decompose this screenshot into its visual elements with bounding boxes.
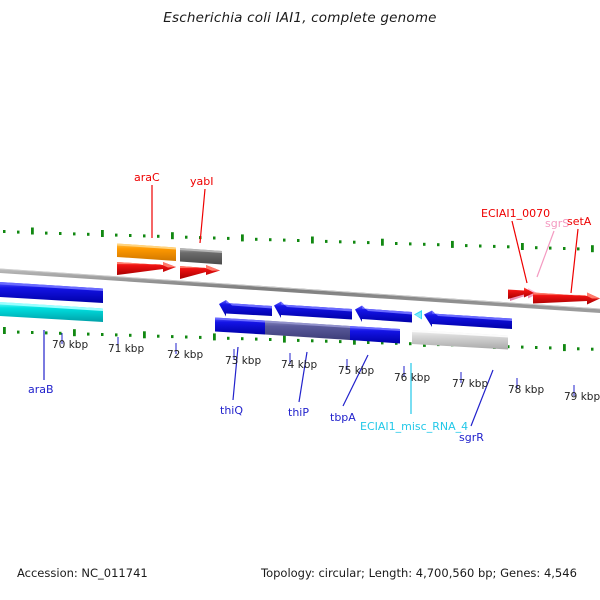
gene-thiQ-arrow[interactable]: [219, 300, 272, 317]
gene-label-tbpA[interactable]: tbpA: [330, 412, 356, 423]
gene-yabI[interactable]: [180, 248, 222, 265]
feature-araB-rna[interactable]: [0, 302, 103, 322]
gene-setA[interactable]: [533, 293, 600, 305]
gene-yabI-arrow[interactable]: [180, 265, 220, 279]
gene-label-sgrR[interactable]: sgrR: [459, 432, 484, 443]
ruler-tick-label-74kbp: 74 kbp: [281, 360, 317, 371]
gene-label-araB[interactable]: araB: [28, 384, 54, 395]
gene-label-thiQ[interactable]: thiQ: [220, 405, 243, 416]
status-accession: Accession: NC_011741: [17, 566, 148, 580]
ruler-tick-label-71kbp: 71 kbp: [108, 344, 144, 355]
ruler-tick-label-77kbp: 77 kbp: [452, 379, 488, 390]
leader-yabI: [200, 189, 205, 243]
status-bar: Accession: NC_011741 Topology: circular;…: [0, 554, 600, 600]
leader-sgrS: [537, 231, 554, 277]
gene-label-sgrS[interactable]: sgrS: [545, 218, 569, 229]
ruler-tick-label-75kbp: 75 kbp: [338, 366, 374, 377]
gene-label-thiP[interactable]: thiP: [288, 407, 309, 418]
feature-sgrR-region[interactable]: [412, 330, 508, 350]
genome-viewer: Escherichia coli IAI1, complete genome: [0, 0, 600, 600]
top-label-leaders: [152, 185, 578, 293]
leader-ECIAI1-0070: [512, 221, 527, 283]
ruler-tick-label-79kbp: 79 kbp: [564, 392, 600, 403]
gene-label-ECIAI1-misc-RNA-4[interactable]: ECIAI1_misc_RNA_4: [360, 421, 468, 432]
gene-araB[interactable]: [0, 282, 103, 303]
leader-setA: [571, 229, 578, 293]
ruler-tick-label-78kbp: 78 kbp: [508, 385, 544, 396]
gene-araC[interactable]: [117, 244, 176, 262]
ruler-tick-label-72kbp: 72 kbp: [167, 350, 203, 361]
gene-tbpA-arrow[interactable]: [355, 306, 412, 323]
ruler-tick-label-70kbp: 70 kbp: [52, 340, 88, 351]
forward-strand-tick-track: [3, 228, 594, 253]
status-topology: Topology: circular; Length: 4,700,560 bp…: [261, 566, 577, 580]
gene-araC-arrow[interactable]: [117, 262, 176, 275]
gene-label-yabI[interactable]: yabI: [190, 176, 213, 187]
gene-sgrR[interactable]: [424, 311, 512, 330]
feature-misc-RNA-4[interactable]: [414, 310, 422, 320]
gene-label-araC[interactable]: araC: [134, 172, 160, 183]
gene-thiP-arrow[interactable]: [274, 302, 352, 320]
genome-map-canvas[interactable]: [0, 0, 600, 600]
gene-label-ECIAI1-0070[interactable]: ECIAI1_0070: [481, 208, 550, 219]
gene-label-setA[interactable]: setA: [567, 216, 591, 227]
ruler-tick-label-73kbp: 73 kbp: [225, 356, 261, 367]
ruler-tick-label-76kbp: 76 kbp: [394, 373, 430, 384]
